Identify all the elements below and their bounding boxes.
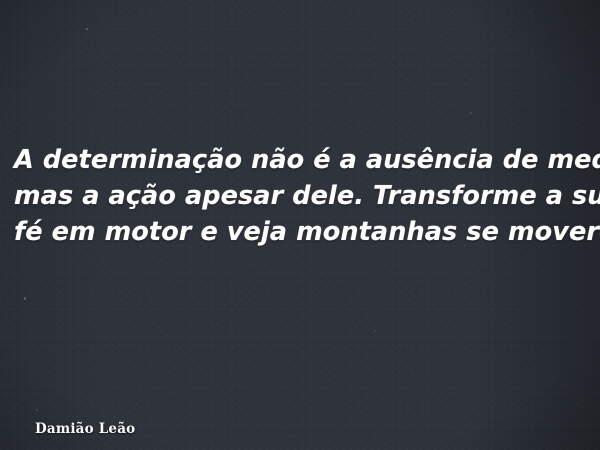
chalkboard-quote-image: A determinação não é a ausência de medo,… xyxy=(0,0,600,450)
chalk-dust-speck xyxy=(470,112,472,114)
quote-text-block: A determinação não é a ausência de medo,… xyxy=(0,142,600,250)
chalk-dust-speck xyxy=(374,330,376,332)
chalk-dust-speck xyxy=(36,409,38,411)
quote-line-3: fé em motor e veja montanhas se moverem. xyxy=(14,214,586,250)
quote-author: Damião Leão xyxy=(35,421,135,437)
quote-line-1: A determinação não é a ausência de medo, xyxy=(14,142,586,178)
quote-line-2: mas a ação apesar dele. Transforme a sua xyxy=(14,178,586,214)
chalk-dust-speck xyxy=(24,297,26,300)
chalk-dust-speck xyxy=(86,28,88,30)
